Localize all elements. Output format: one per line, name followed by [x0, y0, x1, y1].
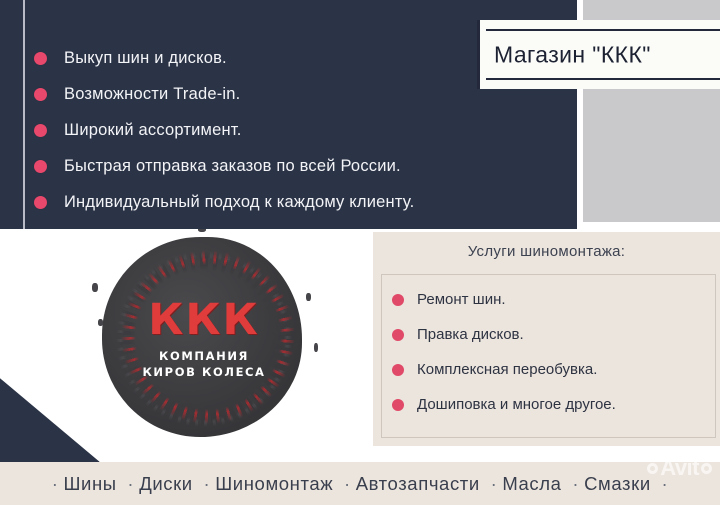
benefit-label: Выкуп шин и дисков.: [64, 49, 227, 68]
tag-item: Автозапчасти: [356, 473, 480, 494]
benefit-label: Возможности Trade-in.: [64, 85, 240, 104]
list-item: Комплексная переобувка.: [392, 352, 715, 387]
tag-separator: ·: [52, 473, 59, 494]
tag-bar-text: ·Шины ·Диски ·Шиномонтаж ·Автозапчасти ·…: [47, 473, 674, 495]
tag-item: Шины: [63, 473, 116, 494]
paint-splatter: [314, 343, 318, 352]
tag-item: Масла: [502, 473, 561, 494]
bullet-dot-icon: [392, 294, 404, 306]
bullet-dot-icon: [34, 160, 47, 173]
list-item: Быстрая отправка заказов по всей России.: [34, 148, 554, 184]
services-list: Ремонт шин. Правка дисков. Комплексная п…: [381, 274, 716, 438]
shop-name-label: Магазин "ККК": [494, 41, 651, 68]
services-panel: Услуги шиномонтажа: Ремонт шин. Правка д…: [373, 232, 720, 446]
tag-item: Шиномонтаж: [215, 473, 333, 494]
paint-splatter: [198, 229, 206, 232]
tag-separator: ·: [491, 473, 498, 494]
paint-splatter: [306, 293, 311, 301]
list-item: Широкий ассортимент.: [34, 112, 554, 148]
tag-separator: ·: [572, 473, 579, 494]
tag-separator: ·: [127, 473, 134, 494]
advertisement-canvas: Выкуп шин и дисков. Возможности Trade-in…: [0, 0, 720, 505]
tag-item: Диски: [139, 473, 193, 494]
list-item: Ремонт шин.: [392, 282, 715, 317]
shop-name-banner: Магазин "ККК": [477, 20, 720, 89]
service-label: Комплексная переобувка.: [417, 361, 597, 378]
services-tag-bar: ·Шины ·Диски ·Шиномонтаж ·Автозапчасти ·…: [0, 462, 720, 505]
tag-separator: ·: [344, 473, 351, 494]
list-item: Дошиповка и многое другое.: [392, 387, 715, 422]
service-label: Ремонт шин.: [417, 291, 506, 308]
services-title: Услуги шиномонтажа:: [373, 243, 720, 260]
tag-separator: ·: [203, 473, 210, 494]
bullet-dot-icon: [34, 52, 47, 65]
benefits-list: Выкуп шин и дисков. Возможности Trade-in…: [34, 40, 554, 220]
list-item: Возможности Trade-in.: [34, 76, 554, 112]
benefit-label: Быстрая отправка заказов по всей России.: [64, 157, 401, 176]
bullet-dot-icon: [392, 399, 404, 411]
ribbon-shape: [0, 301, 100, 462]
tag-separator: ·: [662, 473, 669, 494]
benefit-label: Индивидуальный подход к каждому клиенту.: [64, 193, 414, 212]
service-label: Дошиповка и многое другое.: [417, 396, 616, 413]
corner-ribbon: Специальный бонус для пользователей АВИТ…: [0, 287, 155, 462]
bullet-dot-icon: [392, 329, 404, 341]
service-label: Правка дисков.: [417, 326, 524, 343]
tag-item: Смазки: [584, 473, 651, 494]
list-item: Выкуп шин и дисков.: [34, 40, 554, 76]
list-item: Правка дисков.: [392, 317, 715, 352]
bullet-dot-icon: [34, 196, 47, 209]
logo-artwork-area: ККК КОМПАНИЯ КИРОВ КОЛЕСА Специальный бо…: [0, 229, 373, 462]
list-item: Индивидуальный подход к каждому клиенту.: [34, 184, 554, 220]
bullet-dot-icon: [392, 364, 404, 376]
benefit-label: Широкий ассортимент.: [64, 121, 242, 140]
bullet-dot-icon: [34, 88, 47, 101]
bullet-dot-icon: [34, 124, 47, 137]
